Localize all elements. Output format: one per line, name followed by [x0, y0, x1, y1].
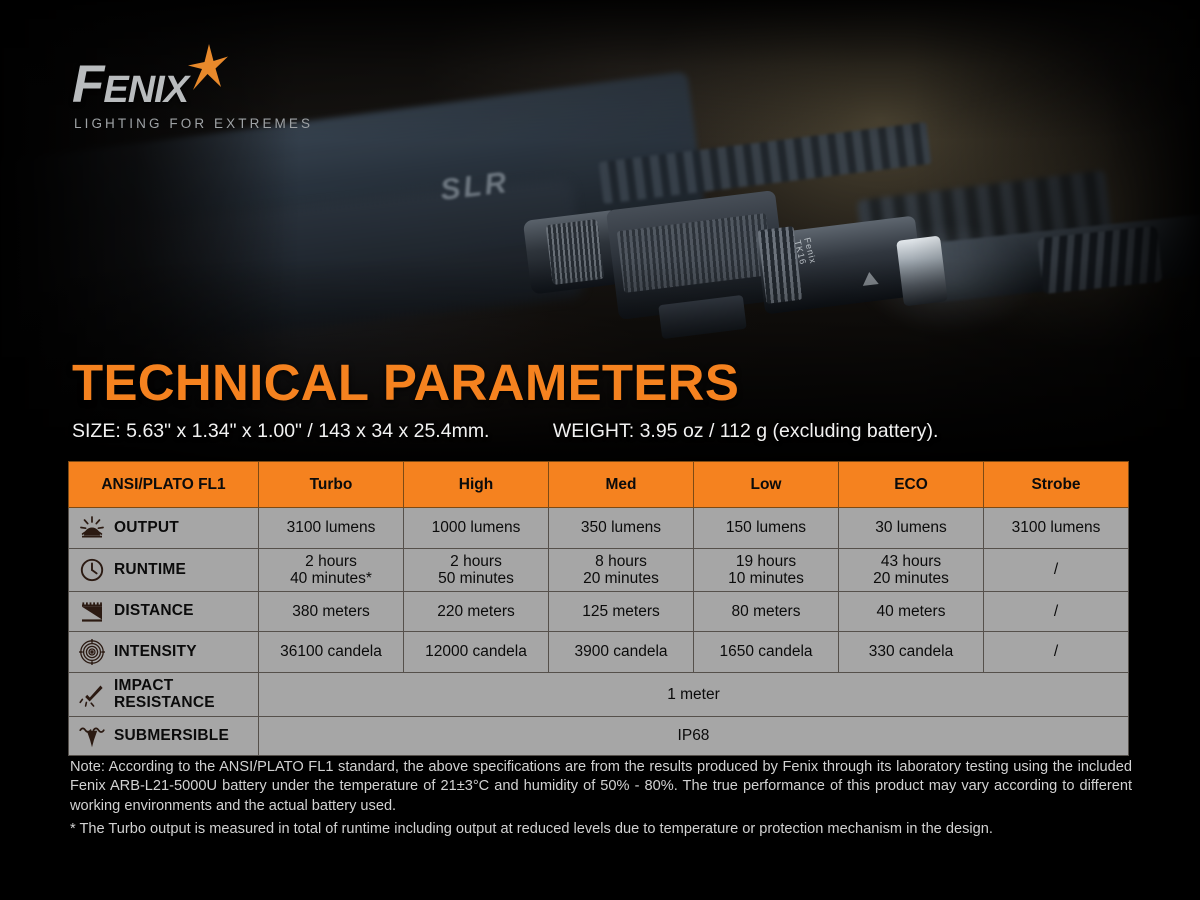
cell-intensity-eco: 330 candela: [839, 632, 984, 673]
column-header-high: High: [404, 462, 549, 508]
size-weight-line: SIZE: 5.63" x 1.34" x 1.00" / 143 x 34 x…: [72, 420, 1132, 443]
column-header-eco: ECO: [839, 462, 984, 508]
brand-tagline: LIGHTING FOR EXTREMES: [74, 116, 372, 131]
table-header-row: ANSI/PLATO FL1 Turbo High Med Low ECO St…: [69, 462, 1129, 508]
turbo-footnote: * The Turbo output is measured in total …: [70, 820, 1132, 839]
cell-distance-strobe: /: [984, 592, 1129, 632]
table-row-distance: DISTANCE 380 meters 220 meters 125 meter…: [69, 592, 1129, 632]
row-label-impact-line2: RESISTANCE: [114, 694, 215, 711]
cell-distance-low: 80 meters: [694, 592, 839, 632]
row-label-intensity: INTENSITY: [69, 632, 259, 673]
brand-wordmark-enix: ENIX: [103, 69, 188, 111]
cell-output-strobe: 3100 lumens: [984, 508, 1129, 549]
cell-distance-high: 220 meters: [404, 592, 549, 632]
cell-distance-turbo: 380 meters: [259, 592, 404, 632]
row-label-distance-text: DISTANCE: [114, 603, 194, 619]
column-header-strobe: Strobe: [984, 462, 1129, 508]
star-burst-icon: [188, 44, 228, 90]
impact-hammer-icon: [79, 682, 105, 708]
cell-intensity-turbo: 36100 candela: [259, 632, 404, 673]
cell-intensity-strobe: /: [984, 632, 1129, 673]
technical-parameters-table: ANSI/PLATO FL1 Turbo High Med Low ECO St…: [68, 461, 1129, 756]
cell-output-turbo: 3100 lumens: [259, 508, 404, 549]
size-text: SIZE: 5.63" x 1.34" x 1.00" / 143 x 34 x…: [72, 420, 489, 442]
table-row-intensity: INTENSITY 36100 candela 12000 candela 39…: [69, 632, 1129, 673]
column-header-low: Low: [694, 462, 839, 508]
cell-submersible-value: IP68: [259, 717, 1129, 756]
cell-intensity-low: 1650 candela: [694, 632, 839, 673]
row-label-intensity-text: INTENSITY: [114, 644, 197, 660]
water-drop-icon: [79, 723, 105, 749]
brand-wordmark-f: F: [72, 55, 103, 114]
cell-distance-med: 125 meters: [549, 592, 694, 632]
column-header-ansi-plato: ANSI/PLATO FL1: [69, 462, 259, 508]
cell-intensity-med: 3900 candela: [549, 632, 694, 673]
cell-runtime-low: 19 hours10 minutes: [694, 549, 839, 592]
row-label-impact-line1: IMPACT: [114, 677, 173, 694]
beam-distance-icon: [79, 599, 105, 625]
row-label-output: OUTPUT: [69, 508, 259, 549]
clock-icon: [79, 557, 105, 583]
row-label-submersible-text: SUBMERSIBLE: [114, 728, 229, 744]
row-label-impact-resistance: IMPACTRESISTANCE: [69, 673, 259, 717]
cell-runtime-high: 2 hours50 minutes: [404, 549, 549, 592]
table-row-output: OUTPUT 3100 lumens 1000 lumens 350 lumen…: [69, 508, 1129, 549]
table-row-runtime: RUNTIME 2 hours40 minutes* 2 hours50 min…: [69, 549, 1129, 592]
page-title: TECHNICAL PARAMETERS: [72, 353, 739, 412]
row-label-output-text: OUTPUT: [114, 520, 179, 536]
cell-distance-eco: 40 meters: [839, 592, 984, 632]
column-header-med: Med: [549, 462, 694, 508]
row-label-runtime-text: RUNTIME: [114, 562, 186, 578]
cell-impact-resistance-value: 1 meter: [259, 673, 1129, 717]
row-label-impact-text: IMPACTRESISTANCE: [114, 678, 215, 711]
sun-burst-icon: [79, 515, 105, 541]
page-root: SLR Fenix TK16 FENIX LIGHTING FOR EXTREM…: [0, 0, 1200, 900]
row-label-submersible: SUBMERSIBLE: [69, 717, 259, 756]
weight-text: WEIGHT: 3.95 oz / 112 g (excluding batte…: [553, 420, 938, 443]
cell-runtime-turbo: 2 hours40 minutes*: [259, 549, 404, 592]
row-label-runtime: RUNTIME: [69, 549, 259, 592]
column-header-turbo: Turbo: [259, 462, 404, 508]
ansi-note: Note: According to the ANSI/PLATO FL1 st…: [70, 758, 1132, 816]
cell-intensity-high: 12000 candela: [404, 632, 549, 673]
cell-runtime-strobe: /: [984, 549, 1129, 592]
cell-output-eco: 30 lumens: [839, 508, 984, 549]
cell-output-high: 1000 lumens: [404, 508, 549, 549]
fenix-logo: FENIX LIGHTING FOR EXTREMES: [72, 58, 372, 136]
table-row-impact-resistance: IMPACTRESISTANCE 1 meter: [69, 673, 1129, 717]
cell-output-low: 150 lumens: [694, 508, 839, 549]
target-intensity-icon: [79, 639, 105, 665]
row-label-distance: DISTANCE: [69, 592, 259, 632]
table-row-submersible: SUBMERSIBLE IP68: [69, 717, 1129, 756]
cell-output-med: 350 lumens: [549, 508, 694, 549]
cell-runtime-eco: 43 hours20 minutes: [839, 549, 984, 592]
cell-runtime-med: 8 hours20 minutes: [549, 549, 694, 592]
